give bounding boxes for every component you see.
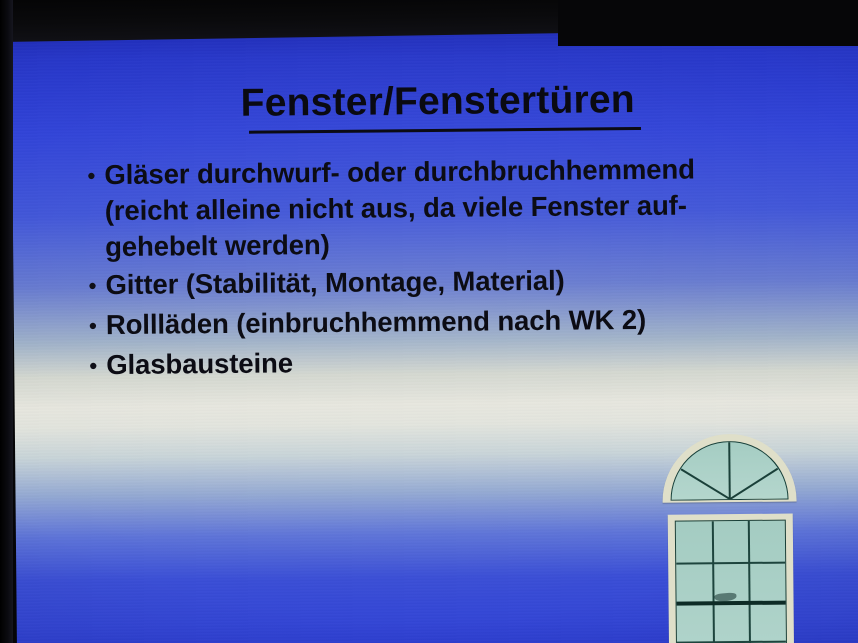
arched-window-icon bbox=[660, 433, 807, 643]
window-sash-frame bbox=[668, 514, 795, 643]
bullet-line: Gläser durchwurf- oder durchbruchhemmend bbox=[104, 151, 695, 193]
bullet-text-glaeser: Gläser durchwurf- oder durchbruchhemmend… bbox=[104, 151, 695, 265]
bullet-item-rolllaeden: • Rollläden (einbruchhemmend nach WK 2) bbox=[80, 300, 810, 345]
slide-title-underline bbox=[249, 127, 641, 134]
bullet-text-rolllaeden: Rollläden (einbruchhemmend nach WK 2) bbox=[106, 302, 647, 343]
fanlight-spoke-right bbox=[729, 468, 778, 500]
bullet-text-gitter: Gitter (Stabilität, Montage, Material) bbox=[105, 263, 564, 303]
bullet-line: Rollläden (einbruchhemmend nach WK 2) bbox=[106, 302, 647, 343]
window-sash-glass bbox=[675, 520, 788, 643]
bullet-marker-icon: • bbox=[80, 347, 106, 385]
bullet-item-gitter: • Gitter (Stabilität, Montage, Material) bbox=[79, 260, 809, 305]
fanlight-spoke-center bbox=[728, 442, 730, 499]
bullet-line: (reicht alleine nicht aus, da viele Fens… bbox=[105, 187, 696, 229]
bullet-text-glasbausteine: Glasbausteine bbox=[106, 345, 293, 383]
bullet-marker-icon: • bbox=[80, 307, 106, 345]
bullet-line: gehebelt werden) bbox=[105, 223, 696, 265]
bullet-item-glaeser: • Gläser durchwurf- oder durchbruchhemme… bbox=[78, 150, 809, 265]
window-fanlight-glass bbox=[670, 441, 789, 501]
projected-slide-photo: Fenster/Fenstertüren • Gläser durchwurf-… bbox=[0, 0, 858, 643]
bullet-marker-icon: • bbox=[78, 157, 104, 195]
window-fanlight-frame bbox=[662, 433, 797, 502]
footer-organization: LPI Nordh bbox=[305, 639, 417, 643]
bullet-list: • Gläser durchwurf- oder durchbruchhemme… bbox=[78, 150, 810, 387]
presentation-slide: Fenster/Fenstertüren • Gläser durchwurf-… bbox=[11, 18, 858, 643]
window-muntin-1 bbox=[676, 562, 785, 565]
window-mullion-left bbox=[712, 521, 715, 643]
bullet-line: Glasbausteine bbox=[106, 345, 293, 383]
bullet-line: Gitter (Stabilität, Montage, Material) bbox=[105, 263, 564, 303]
bullet-marker-icon: • bbox=[79, 267, 105, 305]
window-transom-bar bbox=[677, 601, 786, 606]
bullet-item-glasbausteine: • Glasbausteine bbox=[80, 340, 810, 385]
fanlight-spoke-left bbox=[681, 469, 730, 500]
slide-title: Fenster/Fenstertüren bbox=[12, 76, 858, 128]
window-mullion-right bbox=[748, 521, 751, 643]
